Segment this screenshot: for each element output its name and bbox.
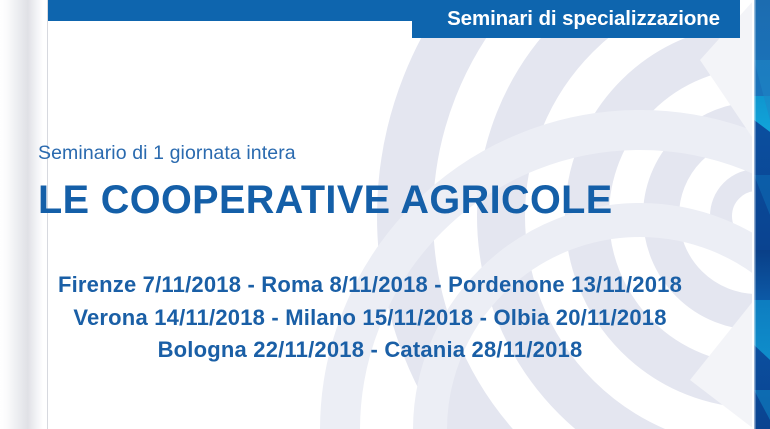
seminar-subtitle: Seminario di 1 giornata intera	[38, 142, 296, 165]
seminar-poster: Seminari di specializzazione Seminario d…	[0, 0, 770, 429]
poster-content: Seminario di 1 giornata intera LE COOPER…	[0, 0, 770, 429]
dates-list: Firenze 7/11/2018 - Roma 8/11/2018 - Por…	[0, 269, 740, 367]
date-line: Verona 14/11/2018 - Milano 15/11/2018 - …	[0, 302, 740, 335]
page-title: LE COOPERATIVE AGRICOLE	[38, 178, 613, 223]
date-line: Firenze 7/11/2018 - Roma 8/11/2018 - Por…	[0, 269, 740, 302]
date-line: Bologna 22/11/2018 - Catania 28/11/2018	[0, 334, 740, 367]
